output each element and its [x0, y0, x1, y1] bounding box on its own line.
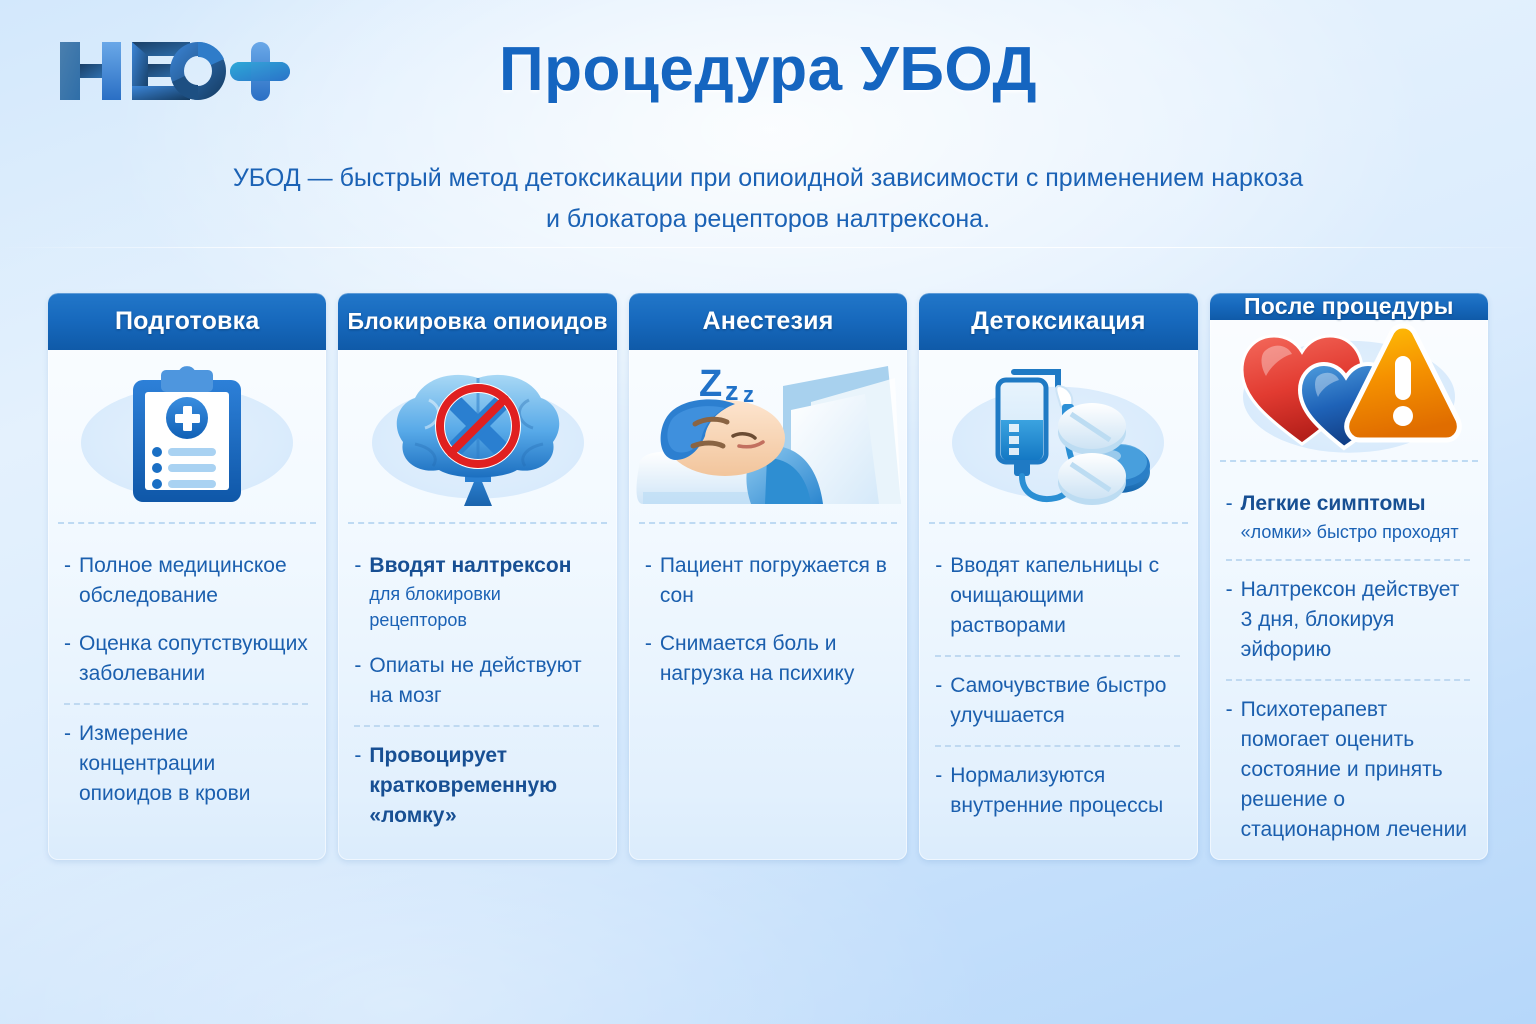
bullet-dash: -	[64, 719, 79, 809]
icon-area-after-procedure	[1210, 320, 1488, 460]
bullet-text: Провоцирует кратковременную «ломку»	[369, 741, 602, 831]
zzz-label: Z	[699, 363, 722, 405]
icon-area-anesthesia: Z z z	[629, 350, 907, 522]
bullet-separator	[935, 745, 1179, 747]
card-header-anesthesia: Анестезия	[629, 293, 907, 350]
iv-drip-pills-icon	[958, 362, 1158, 510]
bullet-dash: -	[645, 629, 660, 689]
card-divider	[58, 522, 316, 524]
bullet-text: Полное медицинское обследование	[79, 551, 312, 611]
page-subtitle: УБОД — быстрый метод детоксикации при оп…	[0, 158, 1536, 240]
card-title-after-procedure: После процедуры	[1244, 293, 1454, 320]
bullet-subtext: для блокировки рецепторов	[369, 581, 602, 633]
infographic-poster: Процедура УБОД УБОД — быстрый метод дето…	[0, 0, 1536, 1024]
list-item: - Снимается боль и нагрузка на психику	[645, 620, 893, 698]
list-item: - Налтрексон действует 3 дня, блокируя э…	[1226, 566, 1474, 674]
list-item: - Измерение концентрации опиоидов в кров…	[64, 710, 312, 818]
bullet-list-after-procedure: - Легкие симптомы «ломки» быстро проходя…	[1210, 462, 1488, 860]
card-divider	[639, 522, 897, 524]
card-after-procedure: После процедуры	[1210, 293, 1488, 860]
list-item: - Оценка сопутствующих заболевании	[64, 620, 312, 698]
list-item: - Самочувствие быстро улучшается	[935, 662, 1183, 740]
bullet-text: Вводят налтрексон для блокировки рецепто…	[369, 551, 602, 633]
header-divider	[0, 247, 1536, 248]
bullet-separator	[1226, 679, 1470, 681]
bullet-dash: -	[354, 741, 369, 831]
bullet-list-preparation: - Полное медицинское обследование - Оцен…	[48, 524, 326, 860]
brain-blocked-icon	[383, 364, 573, 509]
bullet-text-bold: Провоцирует кратковременную «ломку»	[369, 741, 602, 831]
list-item: - Провоцирует кратковременную «ломку»	[354, 732, 602, 840]
list-item: - Пациент погружается в сон	[645, 542, 893, 620]
card-divider	[929, 522, 1187, 524]
list-item: - Опиаты не действуют на мозг	[354, 642, 602, 720]
bullet-text: Снимается боль и нагрузка на психику	[660, 629, 893, 689]
list-item: - Легкие симптомы «ломки» быстро проходя…	[1226, 480, 1474, 554]
bullet-separator	[935, 655, 1179, 657]
card-divider	[348, 522, 606, 524]
card-header-preparation: Подготовка	[48, 293, 326, 350]
bullet-subtext: «ломки» быстро проходят	[1241, 519, 1474, 545]
header: Процедура УБОД УБОД — быстрый метод дето…	[0, 0, 1536, 248]
bullet-text: Оценка сопутствующих заболевании	[79, 629, 312, 689]
bullet-dash: -	[1226, 575, 1241, 665]
bullet-list-anesthesia: - Пациент погружается в сон - Снимается …	[629, 524, 907, 860]
list-item: - Вводят капельницы с очищающими раствор…	[935, 542, 1183, 650]
card-divider	[1220, 460, 1478, 462]
bullet-text: Налтрексон действует 3 дня, блокируя эйф…	[1241, 575, 1474, 665]
bullet-text: Пациент погружается в сон	[660, 551, 893, 611]
bullet-dash: -	[354, 651, 369, 711]
bullet-dash: -	[64, 551, 79, 611]
bullet-dash: -	[935, 551, 950, 641]
card-title-opioid-blocking: Блокировка опиоидов	[347, 308, 607, 335]
icon-area-opioid-blocking	[338, 350, 616, 522]
stage-cards: Подготовка	[48, 293, 1488, 860]
sleeping-patient-icon: Z z z	[633, 354, 903, 519]
bullet-dash: -	[935, 671, 950, 731]
card-header-detoxification: Детоксикация	[919, 293, 1197, 350]
icon-area-preparation	[48, 350, 326, 522]
hearts-warning-icon	[1236, 320, 1462, 460]
card-title-anesthesia: Анестезия	[703, 307, 834, 336]
card-header-after-procedure: После процедуры	[1210, 293, 1488, 320]
bullet-dash: -	[1226, 489, 1241, 545]
bullet-dash: -	[1226, 695, 1241, 845]
card-anesthesia: Анестезия	[629, 293, 907, 860]
bullet-dash: -	[645, 551, 660, 611]
bullet-separator	[1226, 559, 1470, 561]
bullet-text: Вводят капельницы с очищающими растворам…	[950, 551, 1183, 641]
bullet-text: Нормализуются внутренние процессы	[950, 761, 1183, 821]
bullet-separator	[354, 725, 598, 727]
bullet-text: Опиаты не действуют на мозг	[369, 651, 602, 711]
bullet-dash: -	[935, 761, 950, 821]
card-title-detoxification: Детоксикация	[971, 307, 1145, 336]
card-header-opioid-blocking: Блокировка опиоидов	[338, 293, 616, 350]
card-opioid-blocking: Блокировка опиоидов	[338, 293, 616, 860]
bullet-text: Легкие симптомы «ломки» быстро проходят	[1241, 489, 1474, 545]
bullet-text-bold: Вводят налтрексон	[369, 551, 602, 581]
card-detoxification: Детоксикация	[919, 293, 1197, 860]
list-item: - Психотерапевт помогает оценить состоян…	[1226, 686, 1474, 854]
bullet-separator	[64, 703, 308, 705]
bullet-list-opioid-blocking: - Вводят налтрексон для блокировки рецеп…	[338, 524, 616, 860]
page-title: Процедура УБОД	[0, 34, 1536, 105]
bullet-dash: -	[64, 629, 79, 689]
bullet-text-bold: Легкие симптомы	[1241, 489, 1474, 519]
bullet-text: Измерение концентрации опиоидов в крови	[79, 719, 312, 809]
clipboard-medical-icon	[121, 366, 253, 506]
list-item: - Вводят налтрексон для блокировки рецеп…	[354, 542, 602, 642]
icon-area-detoxification	[919, 350, 1197, 522]
list-item: - Полное медицинское обследование	[64, 542, 312, 620]
bullet-text: Психотерапевт помогает оценить состояние…	[1241, 695, 1474, 845]
list-item: - Нормализуются внутренние процессы	[935, 752, 1183, 830]
bullet-list-detoxification: - Вводят капельницы с очищающими раствор…	[919, 524, 1197, 860]
subtitle-line-1: УБОД — быстрый метод детоксикации при оп…	[233, 164, 1303, 192]
subtitle-line-2: и блокатора рецепторов налтрексона.	[0, 199, 1536, 240]
card-title-preparation: Подготовка	[115, 307, 259, 336]
card-preparation: Подготовка	[48, 293, 326, 860]
bullet-text: Самочувствие быстро улучшается	[950, 671, 1183, 731]
bullet-dash: -	[354, 551, 369, 633]
